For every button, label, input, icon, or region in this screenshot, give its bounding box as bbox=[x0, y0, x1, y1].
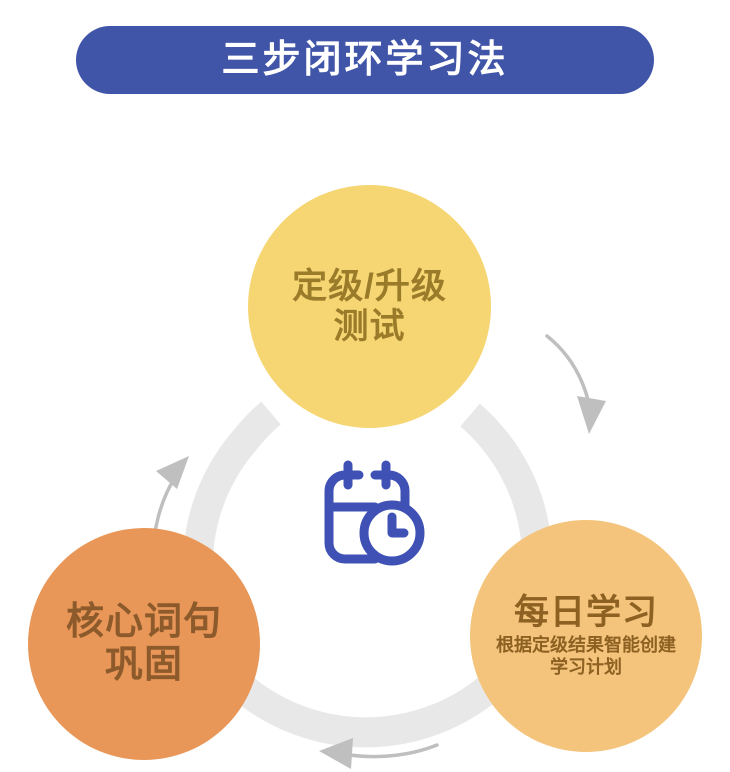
clock-hands bbox=[392, 517, 404, 533]
cycle-node-daily-title: 每日学习 bbox=[514, 593, 658, 633]
title-banner: 三步闭环学习法 bbox=[76, 26, 654, 94]
cycle-node-daily[interactable]: 每日学习 根据定级结果智能创建 学习计划 bbox=[470, 520, 702, 752]
cycle-diagram: 定级/升级 测试 每日学习 根据定级结果智能创建 学习计划 核心词句 巩固 bbox=[0, 140, 730, 772]
arrowhead-top-to-right bbox=[577, 396, 606, 434]
cycle-node-daily-subtitle: 根据定级结果智能创建 学习计划 bbox=[496, 635, 676, 679]
cycle-node-assessment-title: 定级/升级 测试 bbox=[292, 267, 447, 347]
calendar-clock-icon bbox=[305, 455, 430, 575]
ring-arc-bottom bbox=[244, 688, 489, 732]
cycle-node-consolidate[interactable]: 核心词句 巩固 bbox=[28, 528, 260, 760]
cycle-node-consolidate-title: 核心词句 巩固 bbox=[66, 601, 222, 688]
cycle-node-assessment[interactable]: 定级/升级 测试 bbox=[248, 185, 491, 428]
page-title: 三步闭环学习法 bbox=[221, 41, 508, 79]
arrowhead-left-to-top bbox=[156, 456, 189, 489]
